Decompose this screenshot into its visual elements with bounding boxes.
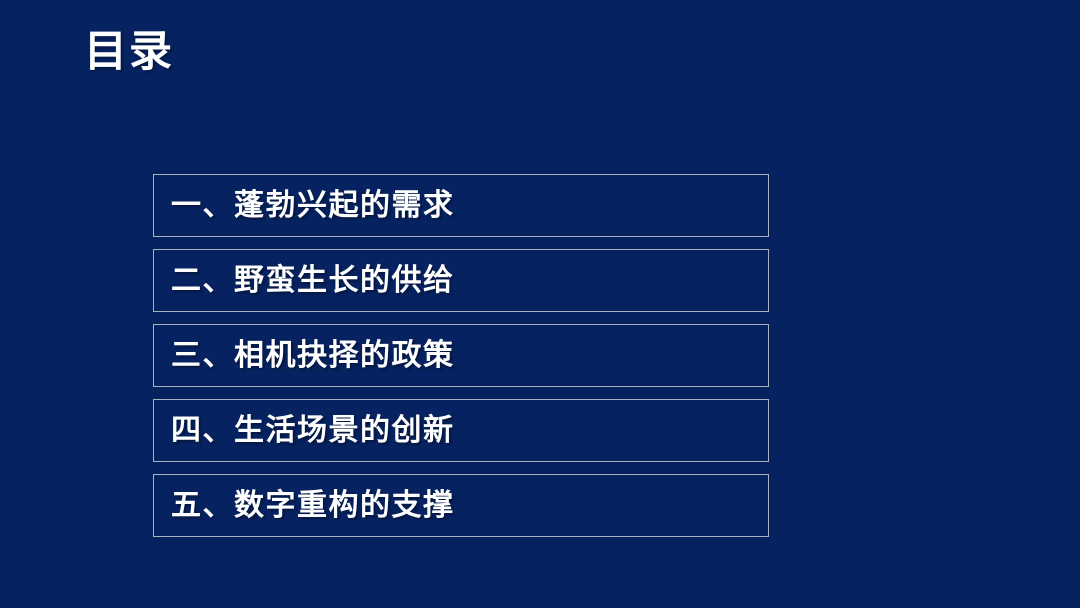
slide-canvas: 目录 一、蓬勃兴起的需求 二、野蛮生长的供给 三、相机抉择的政策 四、生活场景的… — [0, 0, 1080, 608]
toc-item-label: 二、野蛮生长的供给 — [171, 266, 455, 296]
toc-item-1[interactable]: 一、蓬勃兴起的需求 — [153, 174, 769, 237]
toc-item-4[interactable]: 四、生活场景的创新 — [153, 399, 769, 462]
toc-item-5[interactable]: 五、数字重构的支撑 — [153, 474, 769, 537]
toc-item-3[interactable]: 三、相机抉择的政策 — [153, 324, 769, 387]
page-title: 目录 — [84, 28, 174, 76]
toc-item-label: 三、相机抉择的政策 — [171, 341, 455, 371]
table-of-contents-list: 一、蓬勃兴起的需求 二、野蛮生长的供给 三、相机抉择的政策 四、生活场景的创新 … — [153, 174, 769, 537]
toc-item-label: 一、蓬勃兴起的需求 — [171, 191, 455, 221]
toc-item-2[interactable]: 二、野蛮生长的供给 — [153, 249, 769, 312]
toc-item-label: 四、生活场景的创新 — [171, 416, 455, 446]
toc-item-label: 五、数字重构的支撑 — [171, 491, 455, 521]
